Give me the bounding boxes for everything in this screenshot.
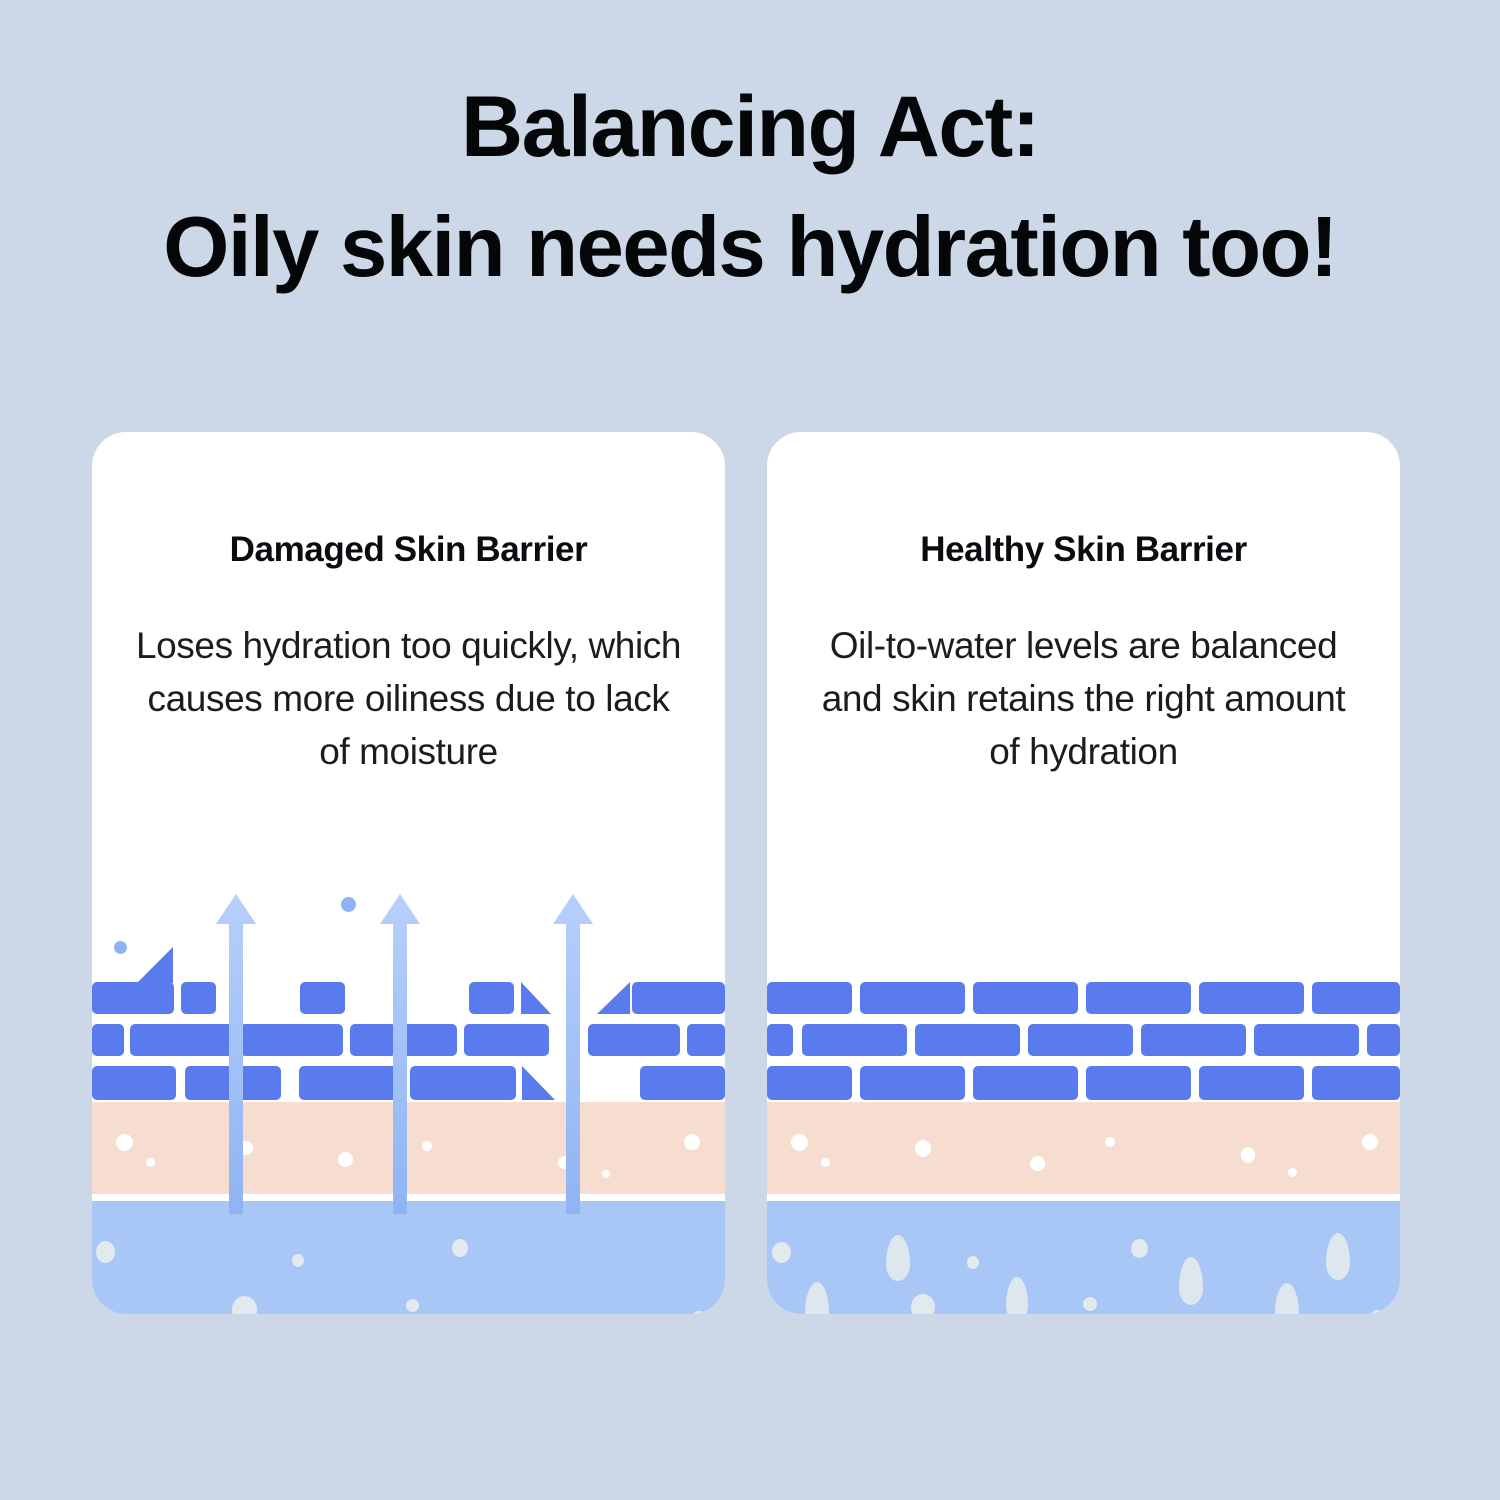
brick [410,1066,516,1100]
brick [1199,982,1304,1014]
oil-speck [1105,1137,1115,1147]
card-healthy-body: Oil-to-water levels are balanced and ski… [804,620,1364,779]
brick [92,982,174,1014]
oil-speck [821,1158,830,1167]
water-layer-healthy [767,1201,1400,1314]
water-loss-arrow [216,894,256,1214]
brick [767,1024,793,1056]
water-loss-arrow [553,894,593,1214]
brick [92,1024,124,1056]
oil-speck [791,1134,808,1151]
oil-speck [602,1170,610,1178]
brick [300,982,345,1014]
water-bubble [452,1239,468,1257]
oil-speck [422,1141,432,1151]
oil-speck [1241,1147,1255,1163]
brick [92,1066,176,1100]
brick-wall-healthy [767,884,1400,1102]
water-loss-arrow [380,894,420,1214]
water-bubble [772,1242,791,1263]
page-title: Balancing Act: Oily skin needs hydration… [0,66,1500,309]
brick [1254,1024,1359,1056]
brick [1199,1066,1304,1100]
water-bubble [96,1241,115,1263]
water-bubble [406,1299,419,1312]
brick [632,982,725,1014]
brick [1312,982,1400,1014]
water-bubble [1131,1239,1148,1258]
oil-speck [684,1134,700,1150]
brick [1367,1024,1400,1056]
oil-speck [146,1158,155,1167]
brick [860,982,965,1014]
brick [1028,1024,1133,1056]
oil-speck [338,1152,353,1167]
brick [915,1024,1020,1056]
brick [802,1024,907,1056]
water-bubble [292,1254,304,1267]
broken-brick-shard [521,982,551,1014]
card-damaged-body: Loses hydration too quickly, which cause… [129,620,689,779]
brick [1312,1066,1400,1100]
water-bubble [967,1256,979,1269]
brick [181,982,216,1014]
loose-particle [341,897,356,912]
card-damaged-skin-barrier: Damaged Skin Barrier Loses hydration too… [92,432,725,1314]
headline-line-1: Balancing Act: [0,66,1500,188]
water-bubble [1083,1297,1097,1311]
loose-particle [114,941,127,954]
brick [973,982,1078,1014]
headline-line-2: Oily skin needs hydration too! [0,188,1500,309]
brick [687,1024,725,1056]
card-damaged-title: Damaged Skin Barrier [92,530,725,570]
brick [588,1024,680,1056]
brick [640,1066,725,1100]
oil-layer-healthy [767,1102,1400,1194]
brick [767,1066,852,1100]
brick [469,982,514,1014]
brick [1086,982,1191,1014]
brick [860,1066,965,1100]
brick [973,1066,1078,1100]
brick [1086,1066,1191,1100]
illustration-damaged-barrier [92,884,725,1314]
water-bubble [911,1294,935,1314]
brick [767,982,852,1014]
broken-brick-shard [597,982,630,1014]
oil-speck [1288,1168,1297,1177]
oil-speck [116,1134,133,1151]
oil-speck [915,1140,931,1157]
brick [1141,1024,1246,1056]
oil-speck [1030,1156,1045,1171]
oil-speck [1362,1134,1378,1150]
card-healthy-skin-barrier: Healthy Skin Barrier Oil-to-water levels… [767,432,1400,1314]
infographic-canvas: Balancing Act: Oily skin needs hydration… [0,0,1500,1500]
illustration-healthy-barrier [767,884,1400,1314]
broken-brick-shard [522,1066,555,1100]
card-healthy-title: Healthy Skin Barrier [767,530,1400,570]
brick [464,1024,549,1056]
broken-brick-shard [137,947,173,983]
water-layer-damaged [92,1201,725,1314]
